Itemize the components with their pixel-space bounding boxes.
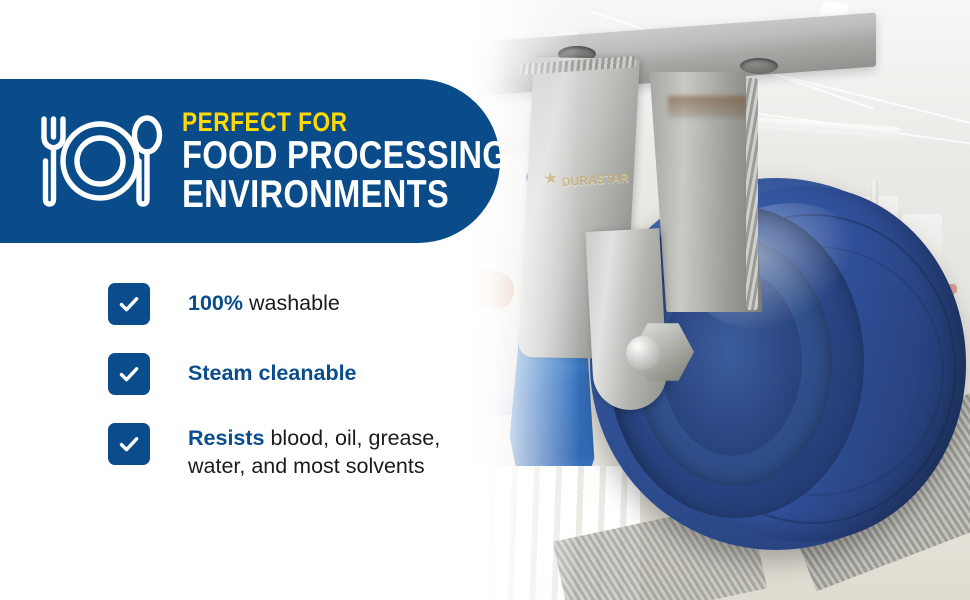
- infographic-banner: ★ DURASTAR: [0, 0, 970, 600]
- axle-cap: [626, 336, 660, 370]
- checklist-item-washable: 100% washable: [108, 283, 488, 325]
- checklist-item-steam-cleanable: Steam cleanable: [108, 353, 488, 395]
- banner-headline-line1: FOOD PROCESSING: [182, 137, 508, 175]
- weld-discoloration: [668, 96, 748, 118]
- checklist-item-lead: 100%: [188, 291, 243, 315]
- checkmark-icon: [108, 423, 150, 465]
- checklist-item-label: Resists blood, oil, grease, water, and m…: [188, 423, 488, 481]
- banner-eyebrow: PERFECT FOR: [182, 109, 508, 135]
- checkmark-icon: [108, 353, 150, 395]
- checklist-item-lead: Steam cleanable: [188, 361, 357, 385]
- fork-plate-spoon-icon: [34, 109, 166, 213]
- checklist-item-resists: Resists blood, oil, grease, water, and m…: [108, 423, 488, 481]
- mounting-hole: [740, 58, 778, 74]
- weld-seam: [746, 78, 758, 310]
- caster-fork-front: [585, 228, 668, 412]
- caster-assembly: ★ DURASTAR: [440, 0, 970, 600]
- banner-headline-line2: ENVIRONMENTS: [182, 176, 508, 214]
- checklist-item-rest: washable: [243, 291, 340, 315]
- product-photo: ★ DURASTAR: [440, 0, 970, 600]
- banner-text-block: PERFECT FOR FOOD PROCESSING ENVIRONMENTS: [182, 109, 570, 214]
- checklist-item-label: 100% washable: [188, 283, 340, 317]
- checklist-item-lead: Resists: [188, 426, 265, 450]
- checklist-item-label: Steam cleanable: [188, 353, 357, 387]
- headline-banner: PERFECT FOR FOOD PROCESSING ENVIRONMENTS: [0, 79, 500, 243]
- feature-checklist: 100% washable Steam cleanable Resists bl…: [108, 283, 488, 481]
- left-content-pane: PERFECT FOR FOOD PROCESSING ENVIRONMENTS…: [0, 0, 500, 600]
- checkmark-icon: [108, 283, 150, 325]
